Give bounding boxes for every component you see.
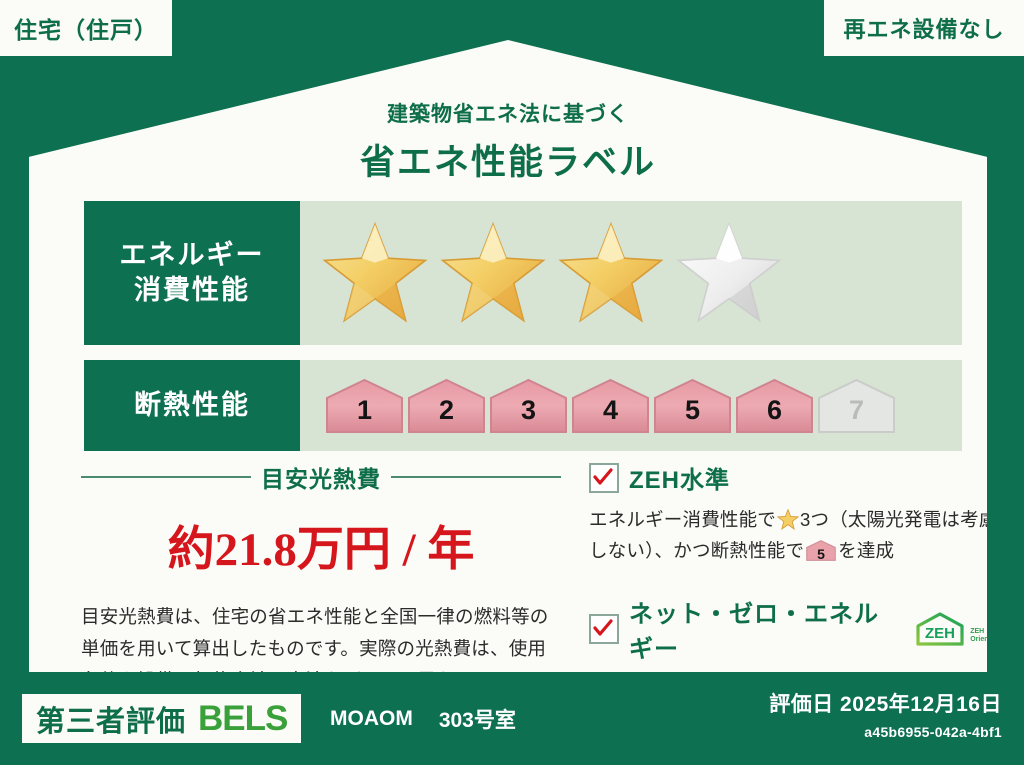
bels-logo-jp: 第三者評価 (36, 698, 186, 740)
checkbox-net-zero[interactable] (589, 614, 619, 644)
house-icon-level-3-number: 3 (489, 395, 568, 426)
insulation-performance-label: 断熱性能 (84, 360, 300, 451)
energy-performance-label-line2: 消費性能 (134, 273, 250, 308)
heading-rule-left (81, 476, 251, 478)
badge-building-type-label: 住宅（住戸） (14, 11, 158, 45)
evaluation-id: a45b6955-042a-4bf1 (769, 724, 1002, 740)
checkbox-zeh-standard[interactable] (589, 463, 619, 493)
energy-label-root: 住宅（住戸） 再エネ設備なし 建築物省エネ法に基づく 省エネ性能ラベル エネルギ… (0, 0, 1024, 765)
house-icon-level-2: 2 (407, 378, 486, 434)
zeh-logo-sub-line2: Oriented (970, 636, 999, 643)
utility-cost-value: 約21.8万円 / 年 (81, 510, 561, 579)
evaluation-date: 評価日 2025年12月16日 (769, 688, 1002, 718)
energy-performance-body (300, 201, 962, 345)
property-owner: MOAOM (330, 707, 413, 731)
badge-renewable-equipment-label: 再エネ設備なし (843, 12, 1004, 44)
heading-rule-right (391, 476, 561, 478)
property-room: 303号室 (439, 704, 516, 734)
house-icon-level-2-number: 2 (407, 395, 486, 426)
insulation-performance-label-text: 断熱性能 (134, 388, 250, 423)
star-icon-inline (777, 508, 799, 529)
zeh-standard-text-a: エネルギー消費性能で (589, 509, 776, 530)
star-icon-empty-4 (674, 221, 784, 325)
bels-logo: 第三者評価 BELS (22, 694, 301, 743)
house-icon-level-3: 3 (489, 378, 568, 434)
star-icon-filled-1 (320, 221, 430, 325)
evaluation-info: 評価日 2025年12月16日 a45b6955-042a-4bf1 (769, 688, 1002, 740)
page-title: 建築物省エネ法に基づく 省エネ性能ラベル (29, 98, 987, 185)
house-icon-level-1-number: 1 (325, 395, 404, 426)
house-icon-level-6: 6 (735, 378, 814, 434)
badge-building-type: 住宅（住戸） (0, 0, 172, 56)
house-icon-level-7: 7 (817, 378, 896, 434)
house-icon-level-6-number: 6 (735, 395, 814, 426)
house-icon-level-7-number: 7 (817, 395, 896, 426)
svg-text:ZEH: ZEH (925, 625, 955, 642)
footer: 第三者評価 BELS MOAOM 303号室 評価日 2025年12月16日 a… (0, 672, 1024, 765)
utility-cost-heading-label: 目安光熱費 (261, 460, 381, 494)
house-icon-level-5: 5 (653, 378, 732, 434)
energy-performance-label-line1: エネルギー (120, 238, 265, 273)
star-icon-filled-3 (556, 221, 666, 325)
energy-performance-label: エネルギー 消費性能 (84, 201, 300, 345)
house-icon-inline-level-5-number: 5 (806, 543, 836, 567)
zeh-standard-header: ZEH水準 (589, 460, 999, 495)
house-icon-level-4-number: 4 (571, 395, 650, 426)
insulation-performance-row: 断熱性能 1 (84, 360, 962, 451)
zeh-standard-block: ZEH水準 エネルギー消費性能で3つ（太陽光発電は考慮しない）、かつ断熱性能で5… (589, 460, 999, 567)
utility-cost-section: 目安光熱費 約21.8万円 / 年 目安光熱費は、住宅の省エネ性能と全国一律の燃… (81, 460, 561, 696)
house-icon-inline-level-5: 5 (806, 540, 836, 561)
zeh-standard-text-c: を達成 (838, 540, 894, 561)
star-rating (300, 221, 784, 325)
insulation-performance-body: 1 2 3 (300, 360, 962, 451)
utility-cost-heading: 目安光熱費 (81, 460, 561, 494)
label-card: 建築物省エネ法に基づく 省エネ性能ラベル エネルギー 消費性能 (29, 40, 987, 672)
bels-logo-en: BELS (198, 699, 287, 739)
badge-renewable-equipment: 再エネ設備なし (824, 0, 1024, 56)
house-icon-level-4: 4 (571, 378, 650, 434)
zeh-logo-sub-line1: ZEH (970, 628, 984, 635)
insulation-level-scale: 1 2 3 (300, 378, 896, 434)
net-zero-title: ネット・ゼロ・エネルギー (629, 594, 899, 664)
property-info: MOAOM 303号室 (330, 694, 516, 743)
house-icon-level-1: 1 (325, 378, 404, 434)
title-subtitle: 建築物省エネ法に基づく (29, 98, 987, 128)
zeh-oriented-logo-caption: ZEH Oriented (970, 628, 999, 647)
zeh-oriented-logo: ZEH ZEH Oriented (913, 611, 999, 647)
net-zero-header: ネット・ゼロ・エネルギー ZEH ZEH (589, 594, 999, 664)
zeh-standard-title: ZEH水準 (629, 460, 730, 495)
star-icon-filled-2 (438, 221, 548, 325)
house-icon-level-5-number: 5 (653, 395, 732, 426)
zeh-standard-body: エネルギー消費性能で3つ（太陽光発電は考慮しない）、かつ断熱性能で5を達成 (589, 504, 999, 567)
energy-performance-row: エネルギー 消費性能 (84, 201, 962, 345)
title-main: 省エネ性能ラベル (29, 134, 987, 185)
